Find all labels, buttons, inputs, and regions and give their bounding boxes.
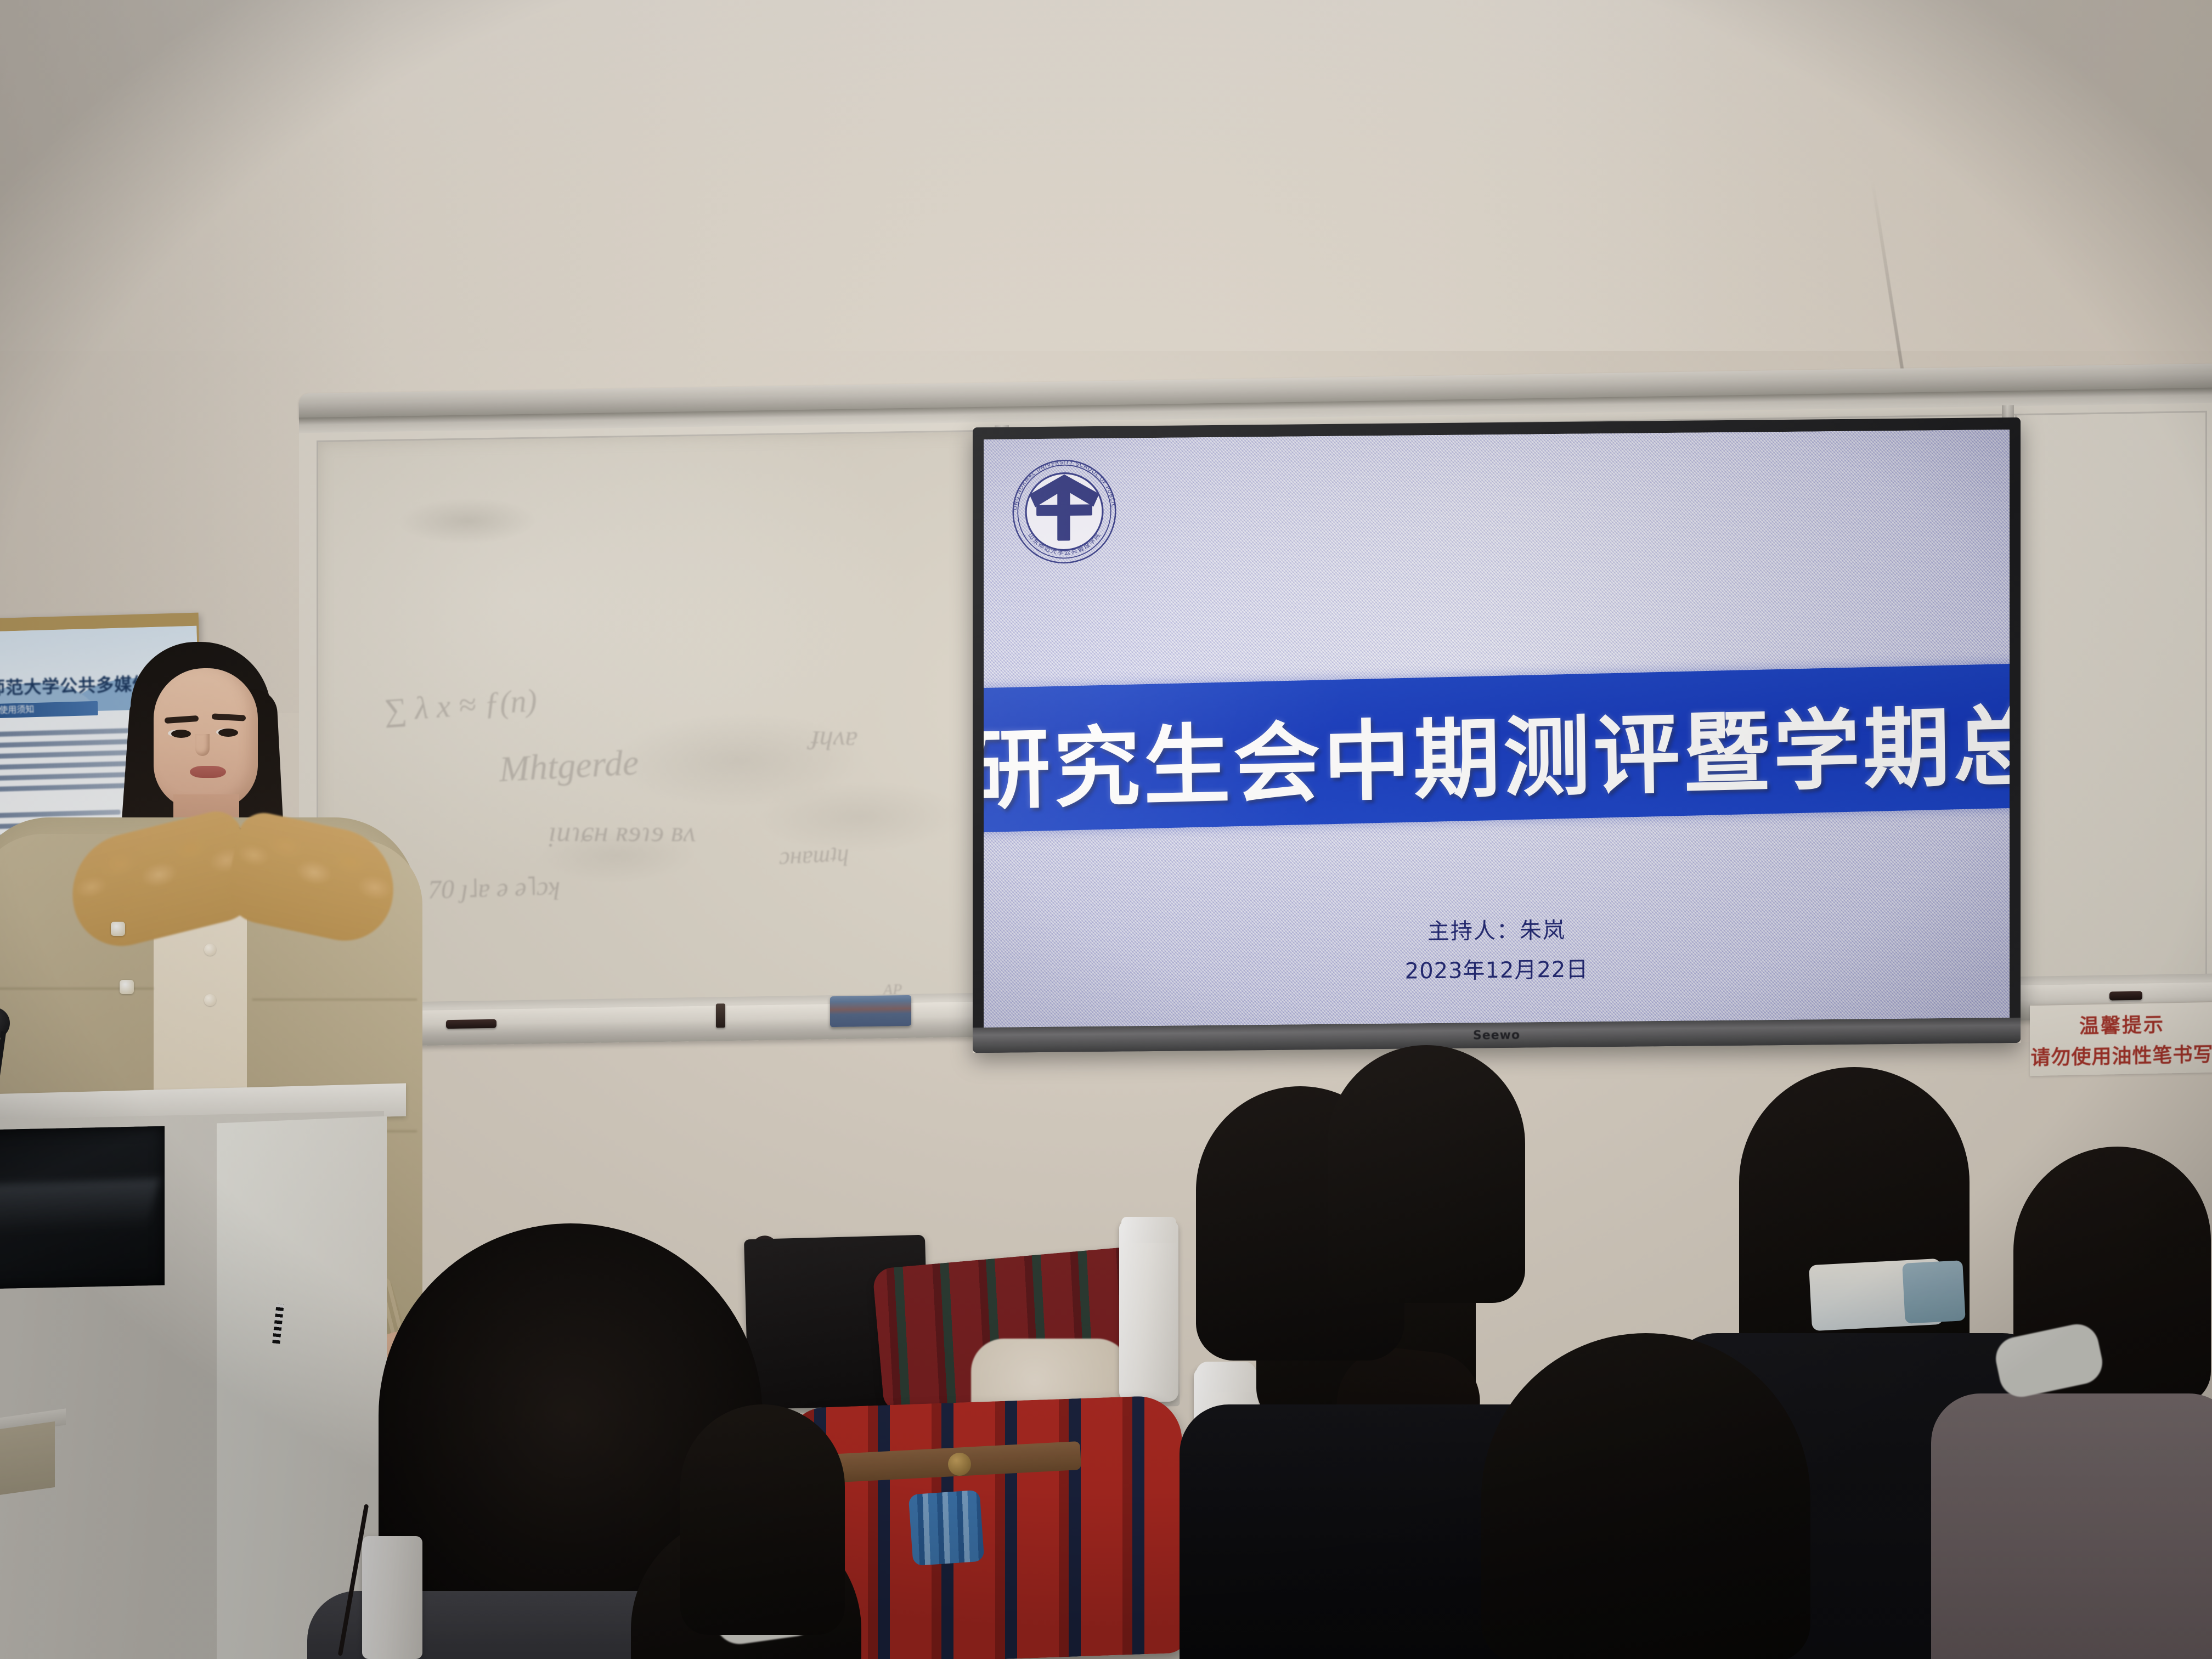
whiteboard-ghost-mark-5: ɟɥʌɐ	[811, 719, 858, 752]
sweater-button-2	[204, 944, 216, 956]
whiteboard-ghost-mark-3: ᴉᴎɿɕʜ ʀɘɿɘ ʙʌ	[549, 816, 696, 848]
presenter-mouth	[190, 766, 226, 778]
whiteboard-ghost-mark-6: ɔʜɐɯʇɥ	[778, 838, 849, 870]
thermos-white-tall-cap	[1121, 1217, 1176, 1243]
whiteboard-ghost-mark-2: Mhtgerde	[499, 742, 640, 791]
presenter-nose	[195, 734, 210, 756]
presenter-eye-left	[171, 730, 191, 738]
notice-body: 请勿使用油性笔书写	[2030, 1039, 2212, 1070]
student-far-right-edge-coat	[1931, 1393, 2212, 1659]
student-front-left	[680, 1404, 845, 1635]
marker-lying[interactable]	[446, 1019, 496, 1029]
thermos-white-tall	[1119, 1221, 1178, 1402]
notice-sign: 温馨提示 请勿使用油性笔书写	[2030, 1001, 2212, 1076]
whiteboard-eraser[interactable]	[830, 995, 911, 1027]
jacket-snap-1	[111, 922, 125, 936]
lectern[interactable]	[0, 1089, 406, 1659]
student-center-left	[1328, 1045, 1525, 1303]
marker-lying-right-3[interactable]	[2109, 991, 2142, 1001]
classroom-photo-scene: ∑ λ x ≈ ƒ(n) Mhtgerde ᴉᴎɿɕʜ ʀɘɿɘ ʙʌ 70 ȷ…	[0, 0, 2212, 1659]
backpack-buckle	[948, 1453, 971, 1476]
white-cup-bottom-left	[362, 1536, 422, 1659]
thermos-white-short-cap	[1196, 1362, 1256, 1392]
display-brand-logo: Seewo	[1473, 1028, 1520, 1042]
sweater-button-3	[204, 994, 216, 1006]
student-right-hood-accent	[1902, 1260, 1966, 1324]
slide-footer-block: 主持人：朱岚 2023年12月22日	[984, 909, 2010, 992]
jacket-quilt-seam-4	[252, 998, 417, 1001]
slide-title-banner-text-layer: 研究生会中期测评暨学期总结	[984, 663, 2010, 832]
whiteboard-panel-far-right[interactable]	[2015, 411, 2207, 997]
notice-heading: 温馨提示	[2079, 1009, 2165, 1039]
display-screen[interactable]: SHANDONG NORMAL UNIVERSITY SCHOOL OF PUB…	[984, 430, 2010, 1028]
marker-standing[interactable]	[716, 1003, 725, 1028]
lectern-screen-glare	[0, 1178, 160, 1235]
student-bottom-center	[1481, 1333, 1810, 1659]
jacket-snap-2	[120, 980, 134, 994]
university-seal-logo: SHANDONG NORMAL UNIVERSITY SCHOOL OF PUB…	[1006, 453, 1122, 570]
lectern-right-face	[217, 1116, 387, 1659]
presenter-eye-right	[218, 729, 238, 737]
slide-title: 研究生会中期测评暨学期总结	[984, 675, 2010, 826]
smart-display[interactable]: SHANDONG NORMAL UNIVERSITY SCHOOL OF PUB…	[973, 417, 2021, 1053]
backpack-blue-patch	[909, 1490, 985, 1566]
